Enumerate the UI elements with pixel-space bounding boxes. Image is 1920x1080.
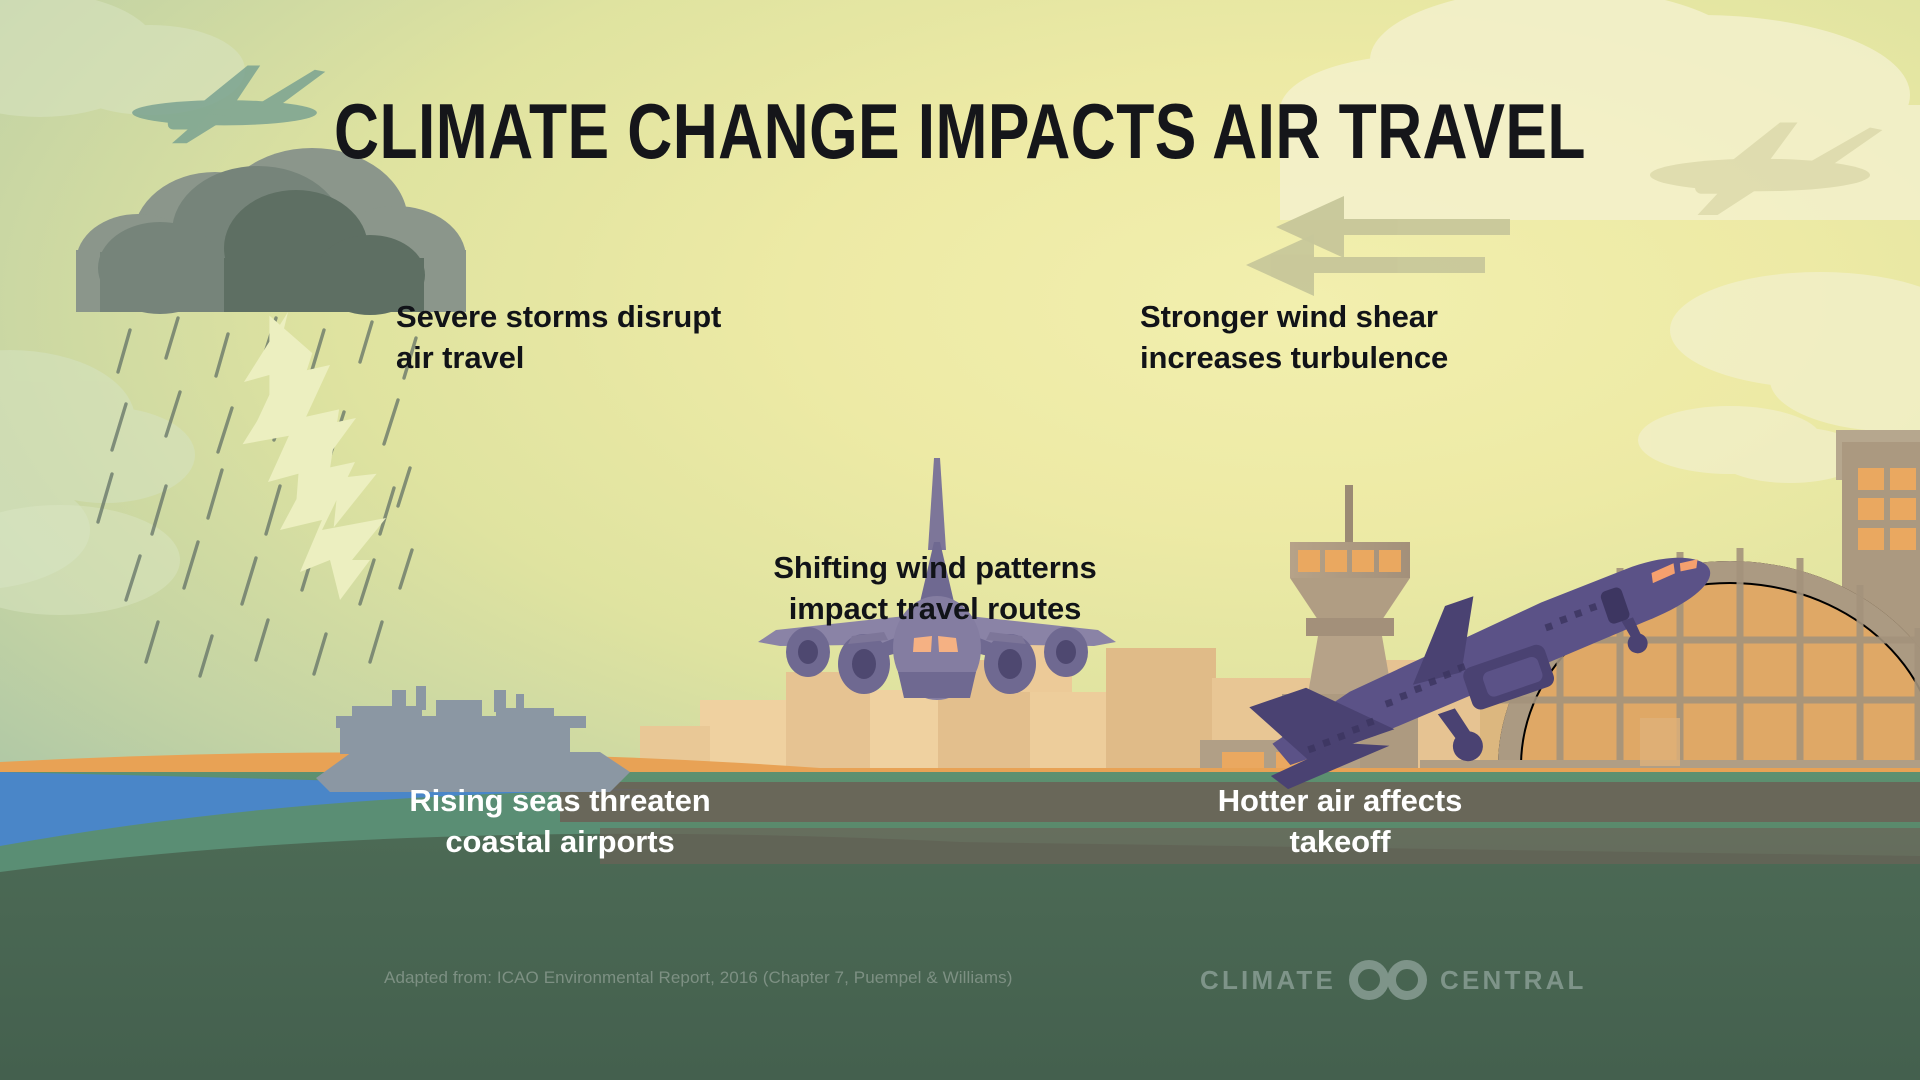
label-wind-patterns: Shifting wind patterns impact travel rou… [745, 547, 1125, 629]
logo-word-climate: CLIMATE [1200, 965, 1336, 996]
logo-word-central: CENTRAL [1440, 965, 1587, 996]
climate-central-logo: CLIMATE CENTRAL [1200, 960, 1587, 1000]
infographic-poster: CLIMATE CHANGE IMPACTS AIR TRAVEL Severe… [0, 0, 1920, 1080]
label-hotter-air: Hotter air affects takeoff [1190, 780, 1490, 862]
label-wind-shear: Stronger wind shear increases turbulence [1140, 296, 1448, 378]
logo-ring-right-icon [1387, 960, 1427, 1000]
label-rising-seas: Rising seas threaten coastal airports [380, 780, 740, 862]
page-title: CLIMATE CHANGE IMPACTS AIR TRAVEL [192, 92, 1728, 170]
source-attribution: Adapted from: ICAO Environmental Report,… [384, 968, 1012, 988]
label-severe-storms: Severe storms disrupt air travel [396, 296, 721, 378]
logo-rings-icon [1349, 960, 1427, 1000]
logo-ring-left-icon [1349, 960, 1389, 1000]
